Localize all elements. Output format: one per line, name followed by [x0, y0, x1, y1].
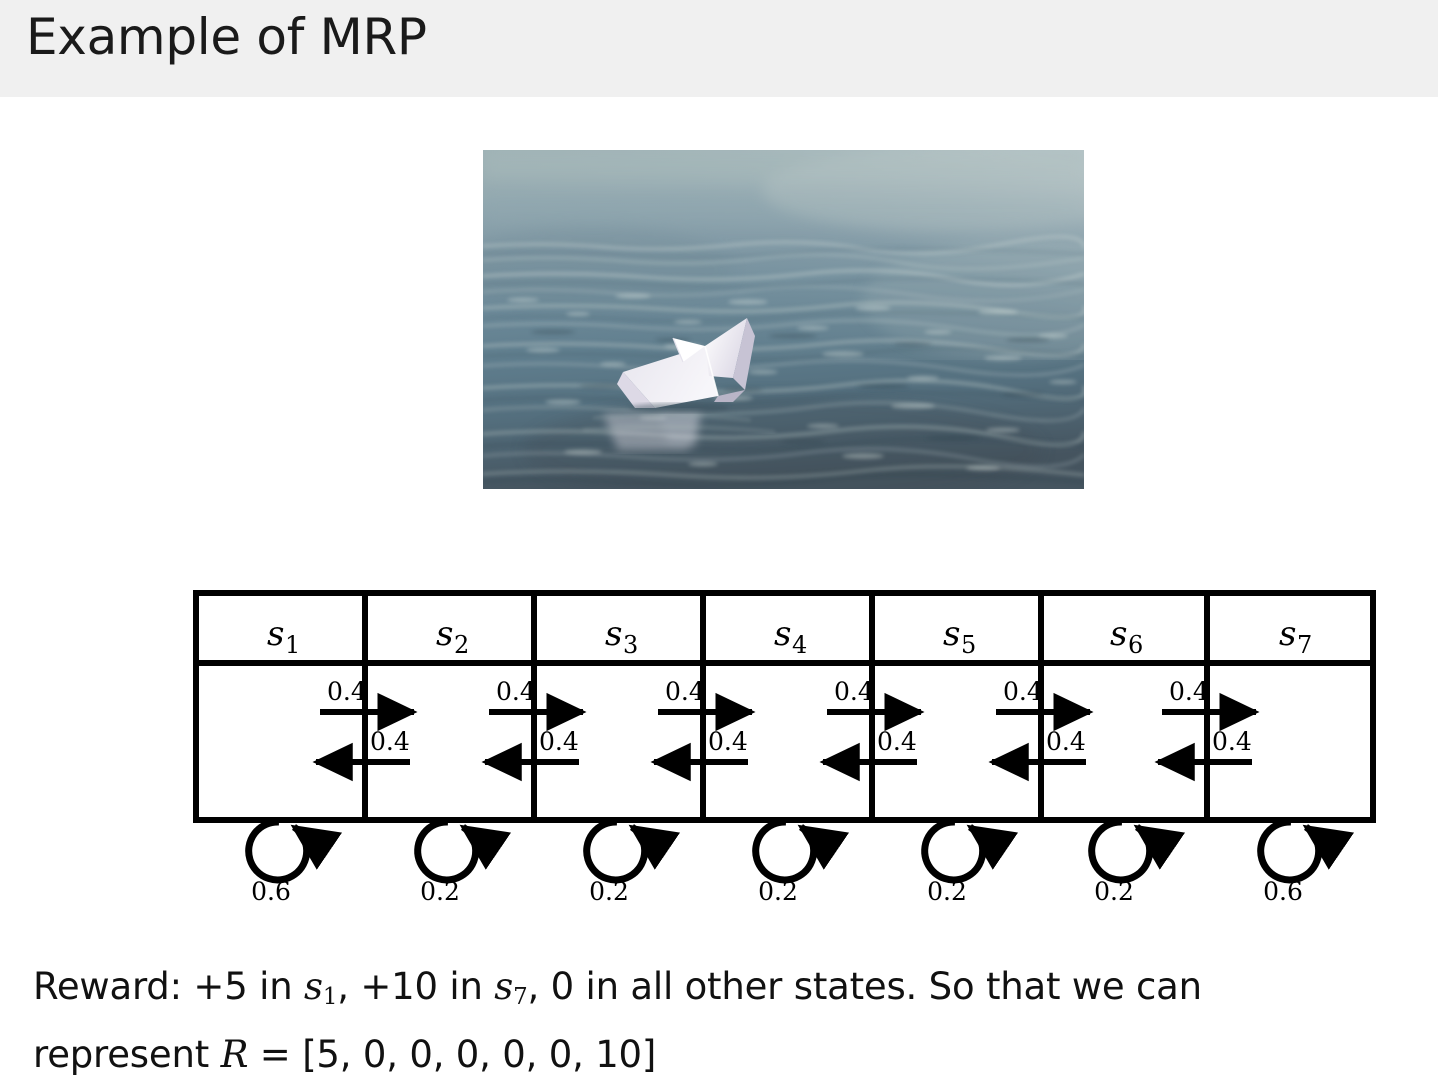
svg-text:5: 5 [961, 631, 976, 659]
svg-text:s: s [605, 614, 622, 654]
reward-state-s7: s [494, 965, 513, 1008]
mrp-chain-diagram: s1 s2 s3 s4 s5 s6 s7 0.4 0.4 0.4 0.4 [193, 590, 1376, 900]
reward-plus-ten: +10 [360, 965, 437, 1008]
prob-right-2: 0.4 [496, 677, 536, 706]
loop-prob-s2: 0.2 [420, 877, 460, 906]
represent-label: represent [33, 1033, 221, 1076]
loop-prob-s7: 0.6 [1263, 877, 1303, 906]
reward-label: Reward: [33, 965, 193, 1008]
self-loop-s6 [1092, 822, 1150, 880]
svg-text:4: 4 [792, 631, 807, 659]
svg-text:s: s [943, 614, 960, 654]
reward-in-1: in [248, 965, 304, 1008]
svg-text:s: s [1110, 614, 1127, 654]
equals-sign: = [248, 1033, 302, 1076]
self-loops [249, 822, 1319, 880]
state-label-s7: s7 [1279, 614, 1312, 659]
state-label-s5: s5 [943, 614, 976, 659]
reward-rest: , 0 in all other states. So that we can [528, 965, 1202, 1008]
svg-text:s: s [1279, 614, 1296, 654]
state-label-s2: s2 [436, 614, 469, 659]
reward-plus-five: +5 [193, 965, 247, 1008]
reward-vector-symbol: R [221, 1033, 249, 1076]
svg-text:6: 6 [1128, 631, 1143, 659]
loop-prob-s4: 0.2 [758, 877, 798, 906]
prob-right-1: 0.4 [327, 677, 367, 706]
prob-left-3: 0.4 [708, 727, 748, 756]
self-loop-labels: 0.6 0.2 0.2 0.2 0.2 0.2 0.6 [251, 877, 1303, 906]
svg-text:1: 1 [285, 631, 300, 659]
state-label-s1: s1 [267, 614, 300, 659]
prob-right-5: 0.4 [1003, 677, 1043, 706]
svg-text:3: 3 [623, 631, 638, 659]
prob-left-2: 0.4 [539, 727, 579, 756]
svg-text:7: 7 [1297, 631, 1312, 659]
self-loop-s1 [249, 822, 307, 880]
svg-text:s: s [774, 614, 791, 654]
reward-caption-line-2: represent R = [5, 0, 0, 0, 0, 0, 10] [33, 1026, 1408, 1080]
reward-caption-line-1: Reward: +5 in s1, +10 in s7, 0 in all ot… [33, 958, 1408, 1026]
self-loop-s4 [756, 822, 814, 880]
prob-left-4: 0.4 [877, 727, 917, 756]
svg-text:s: s [267, 614, 284, 654]
self-loop-s2 [418, 822, 476, 880]
slide-title-bar: Example of MRP [0, 0, 1438, 97]
reward-comma-1: , [337, 965, 360, 1008]
paper-boat-illustration [483, 150, 1084, 489]
slide-root: Example of MRP [0, 0, 1438, 1080]
mrp-chain-svg: s1 s2 s3 s4 s5 s6 s7 0.4 0.4 0.4 0.4 [193, 590, 1376, 900]
self-loop-s7 [1261, 822, 1319, 880]
state-header-labels: s1 s2 s3 s4 s5 s6 s7 [267, 614, 1312, 659]
loop-prob-s5: 0.2 [927, 877, 967, 906]
reward-state-s1: s [304, 965, 323, 1008]
page-title: Example of MRP [26, 8, 427, 66]
prob-right-4: 0.4 [834, 677, 874, 706]
reward-in-2: in [438, 965, 494, 1008]
reward-state-s1-sub: 1 [323, 984, 337, 1010]
prob-right-6: 0.4 [1169, 677, 1209, 706]
prob-left-1: 0.4 [370, 727, 410, 756]
svg-text:s: s [436, 614, 453, 654]
prob-right-3: 0.4 [665, 677, 705, 706]
state-label-s4: s4 [774, 614, 807, 659]
loop-prob-s6: 0.2 [1094, 877, 1134, 906]
self-loop-s3 [587, 822, 645, 880]
reward-caption: Reward: +5 in s1, +10 in s7, 0 in all ot… [33, 958, 1408, 1080]
prob-left-5: 0.4 [1046, 727, 1086, 756]
reward-vector-values: [5, 0, 0, 0, 0, 0, 10] [302, 1033, 656, 1076]
state-label-s3: s3 [605, 614, 638, 659]
state-label-s6: s6 [1110, 614, 1143, 659]
prob-left-6: 0.4 [1212, 727, 1252, 756]
loop-prob-s1: 0.6 [251, 877, 291, 906]
reward-state-s7-sub: 7 [513, 984, 527, 1010]
loop-prob-s3: 0.2 [589, 877, 629, 906]
self-loop-s5 [925, 822, 983, 880]
paper-boat-photo [483, 150, 1084, 489]
svg-text:2: 2 [454, 631, 469, 659]
